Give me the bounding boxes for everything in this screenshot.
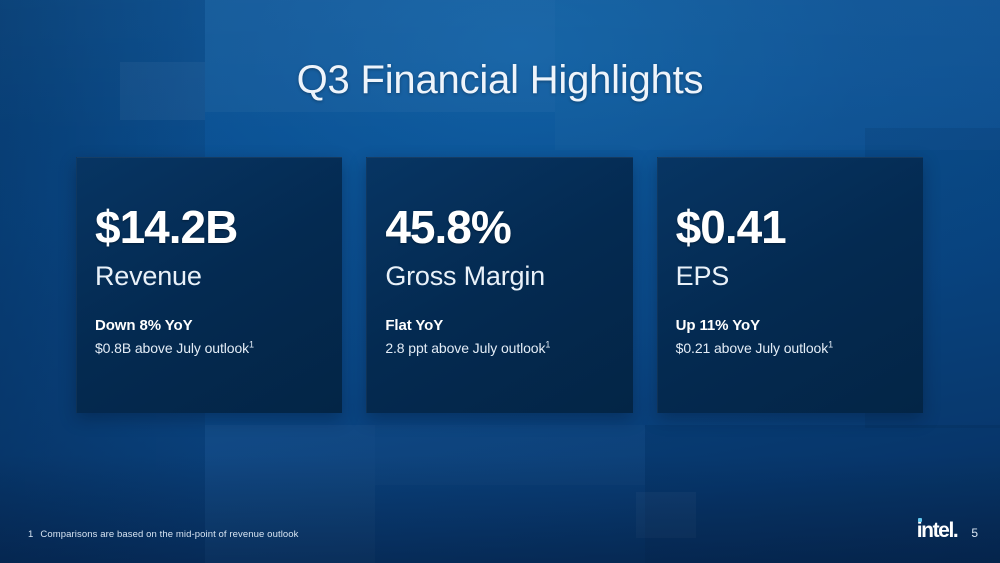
card-note-footnote-marker: 1 [828,340,833,350]
bg-panel-bottom-left [205,425,375,563]
footnote-number: 1 [28,529,33,540]
card-label: EPS [676,262,923,290]
bg-panel-bottom-center [375,425,645,485]
highlight-cards-row: $14.2B Revenue Down 8% YoY $0.8B above J… [76,157,923,413]
card-note: $0.8B above July outlook1 [95,340,342,356]
bg-panel-accent-square [636,492,696,538]
card-value: $14.2B [95,204,342,250]
highlight-card-eps: $0.41 EPS Up 11% YoY $0.21 above July ou… [657,157,923,413]
card-note-text: $0.8B above July outlook [95,340,249,356]
brand-footer: intel. 5 [917,519,978,543]
highlight-card-gross-margin: 45.8% Gross Margin Flat YoY 2.8 ppt abov… [366,157,632,413]
card-change: Up 11% YoY [676,317,923,334]
card-note: $0.21 above July outlook1 [676,340,923,356]
card-note-footnote-marker: 1 [249,340,254,350]
card-note-text: $0.21 above July outlook [676,340,829,356]
card-change: Down 8% YoY [95,317,342,334]
bg-bottom-vignette [0,455,1000,563]
intel-logo: intel. [917,519,958,543]
card-change: Flat YoY [385,317,632,334]
card-note-text: 2.8 ppt above July outlook [385,340,545,356]
footnote-text: Comparisons are based on the mid-point o… [40,529,298,540]
card-value: 45.8% [385,204,632,250]
presentation-slide: Q3 Financial Highlights $14.2B Revenue D… [0,0,1000,563]
intel-logo-dot [918,518,922,522]
footnote: 1Comparisons are based on the mid-point … [28,529,299,540]
card-label: Gross Margin [385,262,632,290]
page-number: 5 [971,526,978,540]
card-note: 2.8 ppt above July outlook1 [385,340,632,356]
card-label: Revenue [95,262,342,290]
highlight-card-revenue: $14.2B Revenue Down 8% YoY $0.8B above J… [76,157,342,413]
intel-logo-text: intel. [917,519,958,542]
page-title: Q3 Financial Highlights [0,58,1000,103]
card-note-footnote-marker: 1 [545,340,550,350]
card-value: $0.41 [676,204,923,250]
